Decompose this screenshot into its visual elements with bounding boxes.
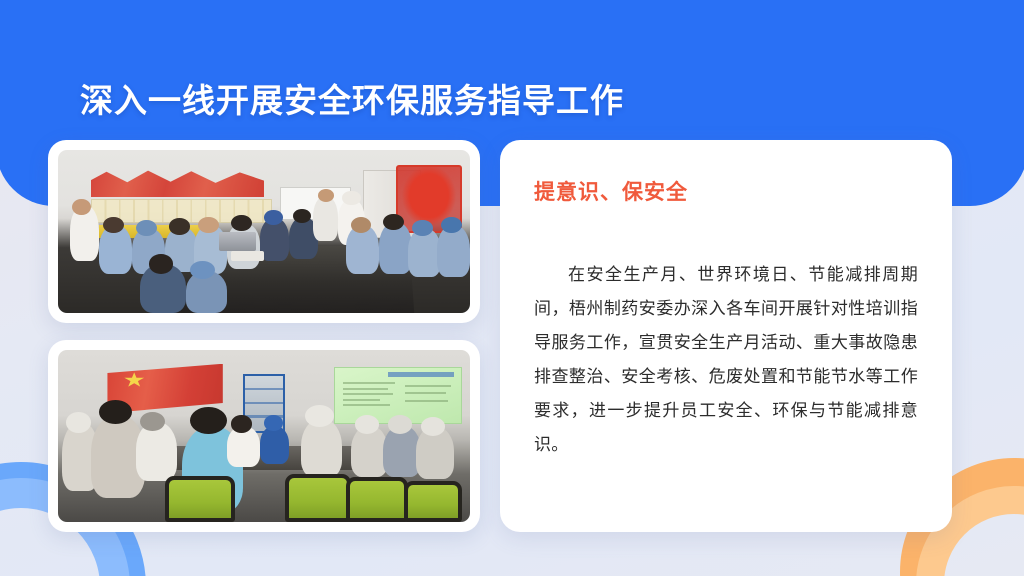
panel-body-text: 在安全生产月、世界环境日、节能减排周期间，梧州制药安委办深入各车间开展针对性培训… [534, 258, 918, 462]
photo-card-meeting-room [48, 140, 480, 323]
meeting-room-photo [58, 150, 470, 313]
slide-canvas: 深入一线开展安全环保服务指导工作 [0, 0, 1024, 576]
photo-card-training-room [48, 340, 480, 532]
training-room-photo [58, 350, 470, 522]
seated-attendees [58, 150, 470, 313]
chair [404, 481, 462, 522]
chair [165, 476, 235, 522]
panel-heading: 提意识、保安全 [534, 176, 918, 206]
chair [346, 477, 408, 522]
projector [231, 251, 264, 261]
chair [285, 474, 351, 522]
page-title: 深入一线开展安全环保服务指导工作 [80, 74, 624, 122]
content-panel: 提意识、保安全 在安全生产月、世界环境日、节能减排周期间，梧州制药安委办深入各车… [500, 140, 952, 532]
laptop [219, 232, 256, 252]
